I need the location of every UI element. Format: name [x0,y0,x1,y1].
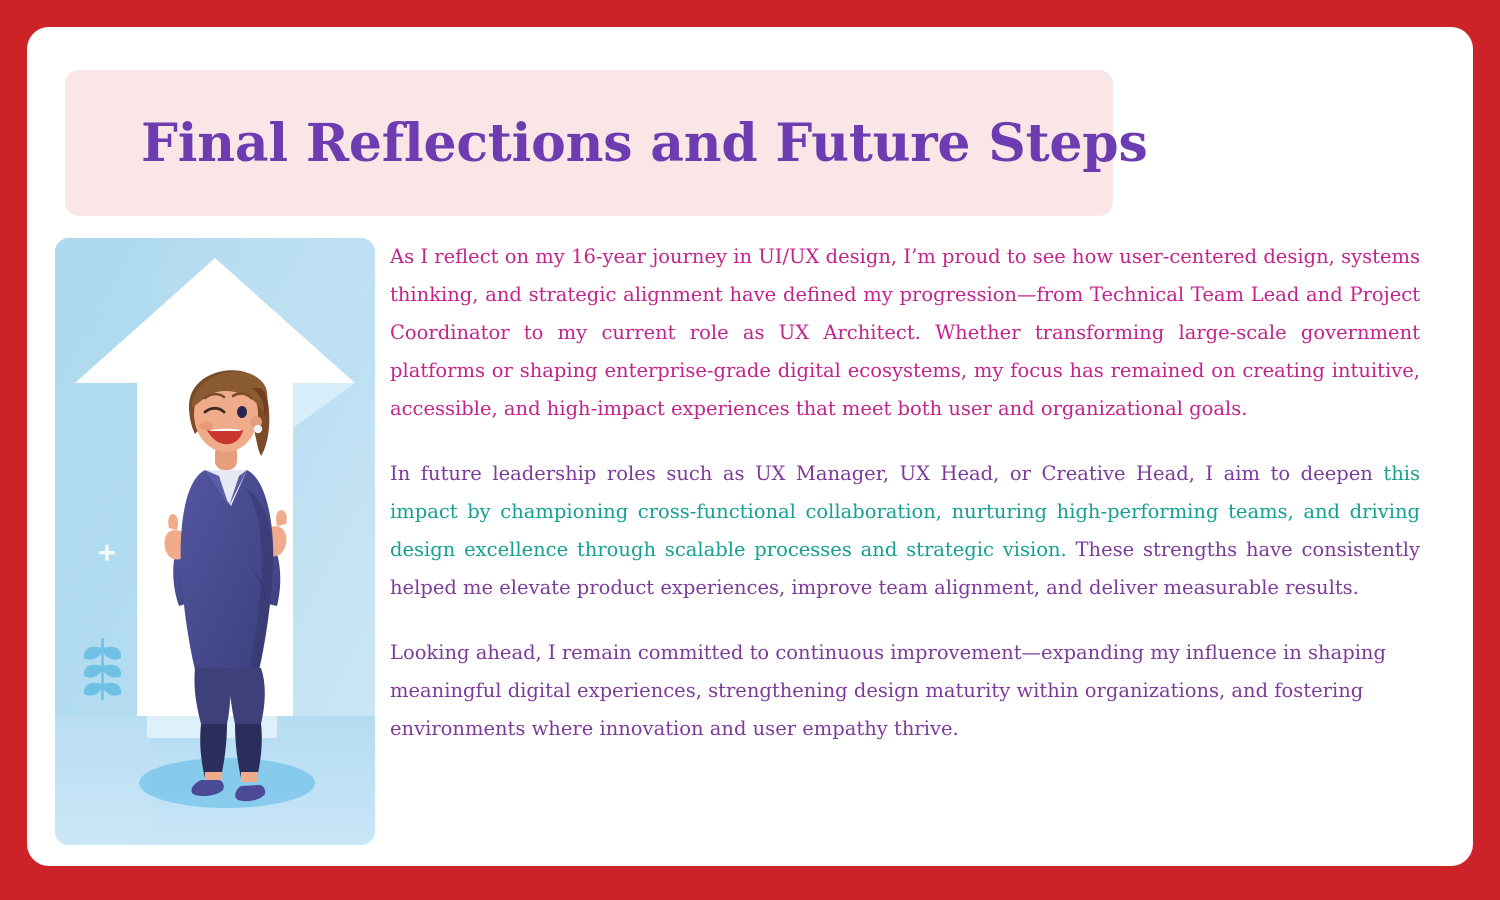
illustration-panel [55,238,375,845]
paragraph-3: Looking ahead, I remain committed to con… [390,634,1420,748]
body-text-column: As I reflect on my 16-year journey in UI… [390,238,1420,748]
paragraph-1: As I reflect on my 16-year journey in UI… [390,238,1420,428]
content-card: Final Reflections and Future Steps [27,27,1473,866]
paragraph-2-segment-1: In future leadership roles such as UX Ma… [390,462,1383,485]
page-title: Final Reflections and Future Steps [141,113,1148,174]
title-banner: Final Reflections and Future Steps [65,70,1113,216]
businesswoman-thumbs-up-icon [55,238,375,845]
paragraph-2: In future leadership roles such as UX Ma… [390,455,1420,607]
slide-root: Final Reflections and Future Steps [0,0,1500,900]
